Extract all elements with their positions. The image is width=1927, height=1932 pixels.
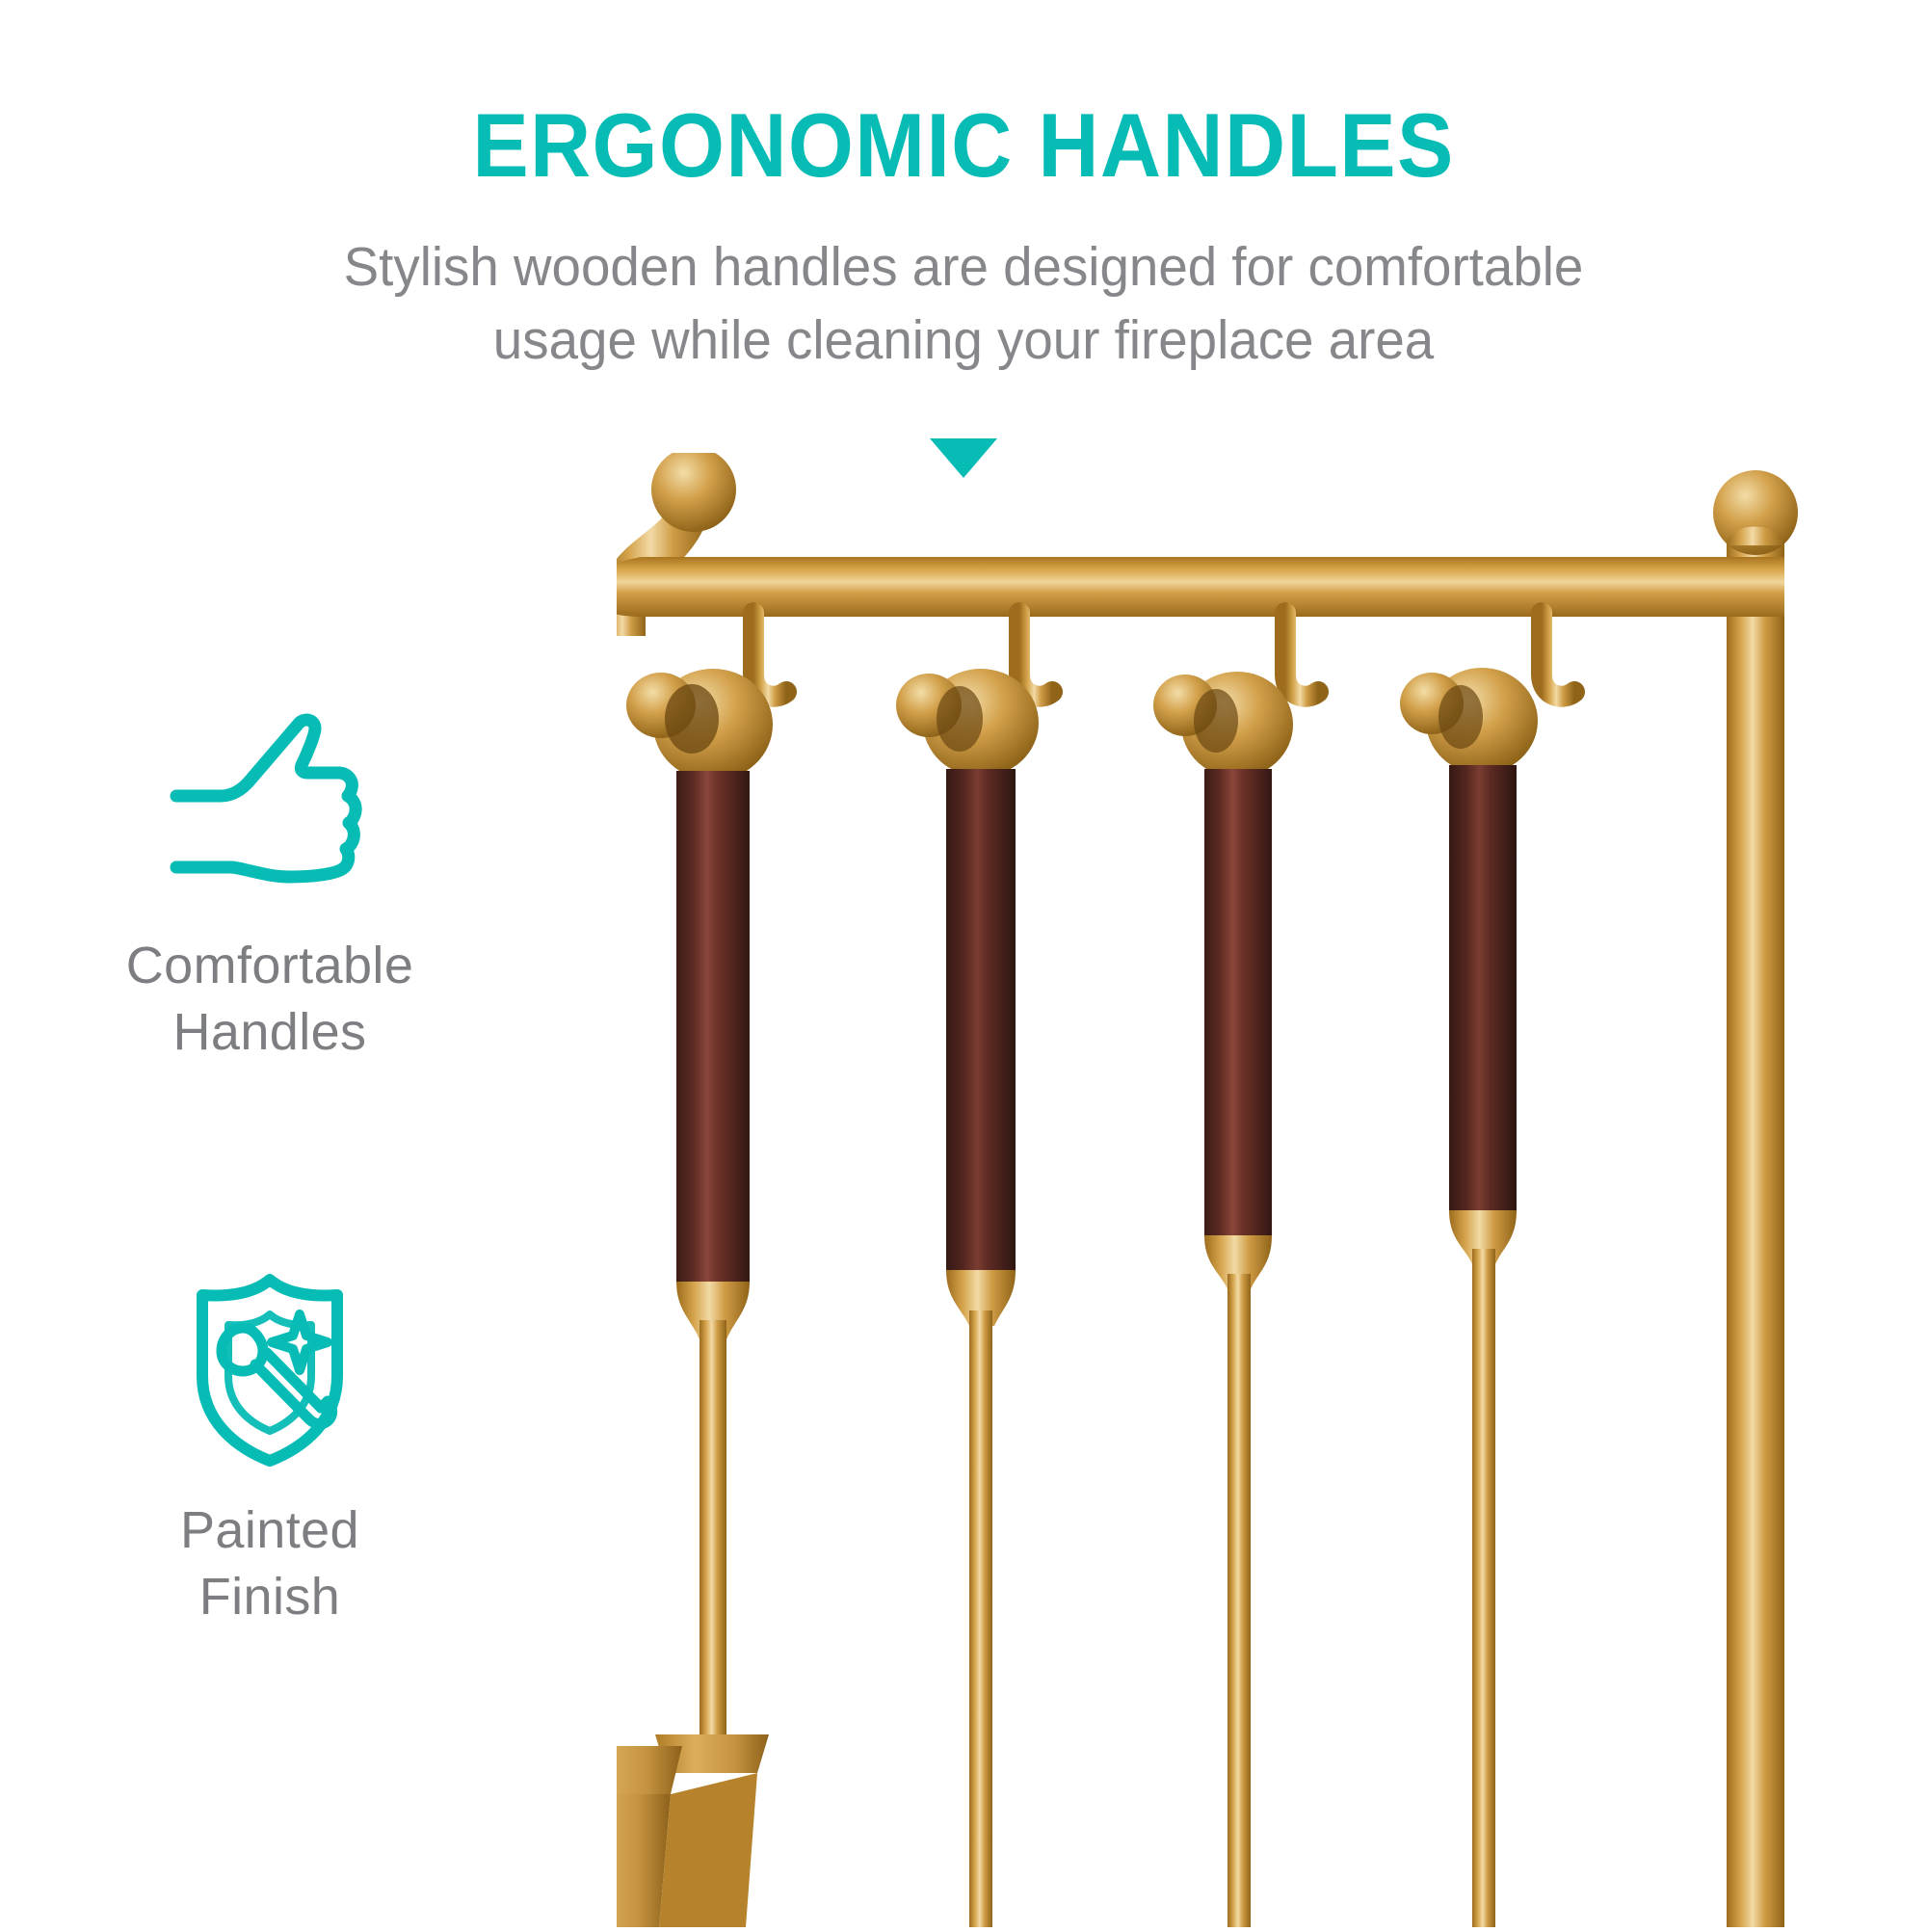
feature-item-comfortable-handles: Comfortable Handles xyxy=(58,694,482,1066)
thumbs-up-icon xyxy=(159,703,381,906)
stand-right-post xyxy=(1713,470,1798,1927)
tool-shovel xyxy=(617,669,773,1927)
shield-paintbrush-sparkle-icon xyxy=(173,1268,366,1470)
marketing-banner: ERGONOMIC HANDLES Stylish wooden handles… xyxy=(0,0,1927,1927)
subtitle-line-2: usage while cleaning your fireplace area xyxy=(339,304,1588,378)
fireplace-tool-set-illustration xyxy=(617,453,1927,1927)
feature-icon-slot xyxy=(58,694,482,915)
feature-label: Comfortable Handles xyxy=(58,933,482,1066)
tool-tongs xyxy=(1400,668,1538,1927)
subtitle-line-1: Stylish wooden handles are designed for … xyxy=(339,231,1588,304)
stand-top-rail xyxy=(617,557,1784,617)
page-title: ERGONOMIC HANDLES xyxy=(67,0,1860,191)
feature-label-line-2: Handles xyxy=(58,999,482,1066)
feature-list: Comfortable Handles xyxy=(58,694,482,1823)
feature-item-painted-finish: Painted Finish xyxy=(58,1258,482,1630)
product-image xyxy=(617,453,1927,1927)
feature-label: Painted Finish xyxy=(58,1497,482,1630)
feature-label-line-1: Comfortable xyxy=(126,937,414,994)
subtitle: Stylish wooden handles are designed for … xyxy=(339,191,1588,378)
tool-broom xyxy=(896,669,1039,1927)
feature-label-line-2: Finish xyxy=(58,1564,482,1630)
header: ERGONOMIC HANDLES Stylish wooden handles… xyxy=(0,0,1927,378)
feature-icon-slot xyxy=(58,1258,482,1480)
feature-label-line-1: Painted xyxy=(180,1501,359,1559)
tool-poker xyxy=(1153,672,1293,1927)
